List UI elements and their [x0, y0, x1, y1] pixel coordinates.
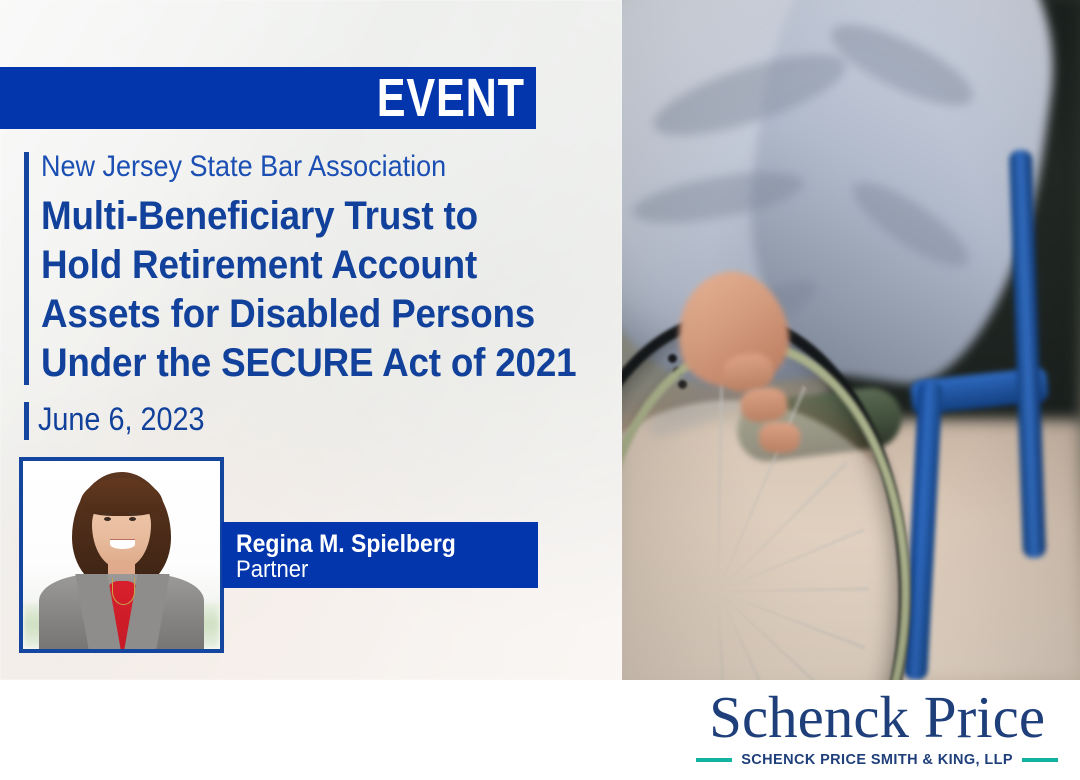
speaker-role: Partner	[236, 557, 514, 583]
headshot-image	[23, 461, 220, 649]
dash-left-icon	[696, 758, 732, 762]
eyebrow	[128, 513, 139, 515]
content-band: EVENT New Jersey State Bar Association M…	[0, 0, 1080, 680]
event-banner: EVENT	[0, 67, 536, 129]
dash-right-icon	[1022, 758, 1058, 762]
eyebrow	[102, 513, 113, 515]
event-banner-label: EVENT	[377, 71, 536, 125]
speaker-headshot	[19, 457, 224, 653]
event-title-line: Assets for Disabled Persons	[41, 290, 630, 339]
event-title-line: Hold Retirement Account	[41, 241, 630, 290]
event-title-line: Under the SECURE Act of 2021	[41, 339, 630, 388]
footer: Schenck Price SCHENCK PRICE SMITH & KING…	[0, 680, 1080, 780]
event-title-line: Multi-Beneficiary Trust to	[41, 192, 630, 241]
event-announcement-poster: EVENT New Jersey State Bar Association M…	[0, 0, 1080, 780]
hero-wheelchair-photo	[622, 0, 1080, 680]
firm-logo-tagline-row: SCHENCK PRICE SMITH & KING, LLP	[696, 752, 1058, 768]
event-title: Multi-Beneficiary Trust to Hold Retireme…	[41, 192, 630, 388]
necklace	[112, 578, 136, 605]
firm-logo-tagline: SCHENCK PRICE SMITH & KING, LLP	[741, 752, 1013, 768]
speaker-name: Regina M. Spielberg	[236, 531, 514, 557]
firm-logo: Schenck Price SCHENCK PRICE SMITH & KING…	[696, 688, 1058, 768]
event-date: June 6, 2023	[38, 400, 205, 438]
speaker-name-banner: Regina M. Spielberg Partner	[222, 522, 538, 588]
title-accent-rule	[24, 152, 29, 385]
firm-logo-name: Schenck Price	[696, 688, 1058, 747]
date-accent-rule	[24, 402, 29, 440]
photo-vignette	[622, 0, 1080, 680]
presenting-organization: New Jersey State Bar Association	[41, 152, 545, 182]
